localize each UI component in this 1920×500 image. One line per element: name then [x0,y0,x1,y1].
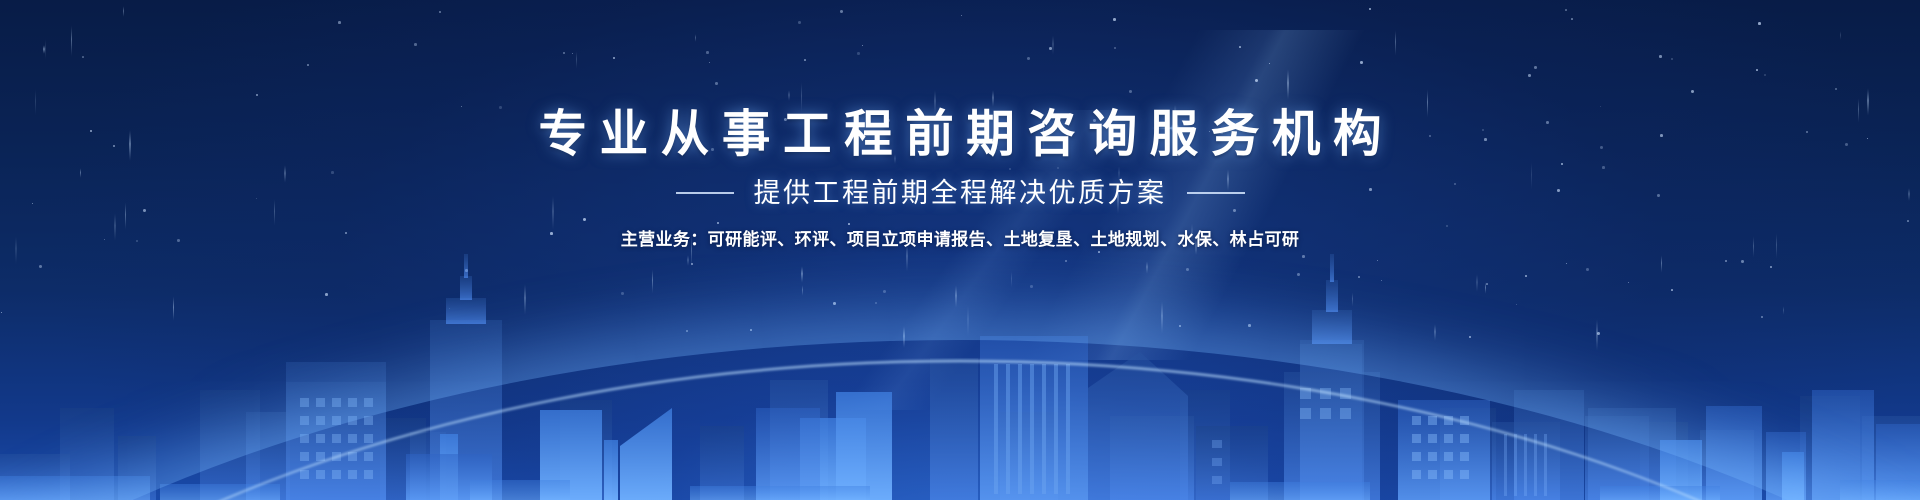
city-skyline [0,240,1920,500]
dash-right-icon [1187,192,1245,194]
banner-business-scope: 主营业务：可研能评、环评、项目立项申请报告、土地复垦、土地规划、水保、林占可研 [0,228,1920,252]
dash-left-icon [676,192,734,194]
hero-banner: 专业从事工程前期咨询服务机构 提供工程前期全程解决优质方案 主营业务：可研能评、… [0,0,1920,500]
banner-headline: 专业从事工程前期咨询服务机构 [29,106,1891,162]
banner-subline-row: 提供工程前期全程解决优质方案 [0,176,1920,210]
banner-content: 专业从事工程前期咨询服务机构 提供工程前期全程解决优质方案 主营业务：可研能评、… [0,0,1920,252]
banner-subline: 提供工程前期全程解决优质方案 [754,176,1167,210]
